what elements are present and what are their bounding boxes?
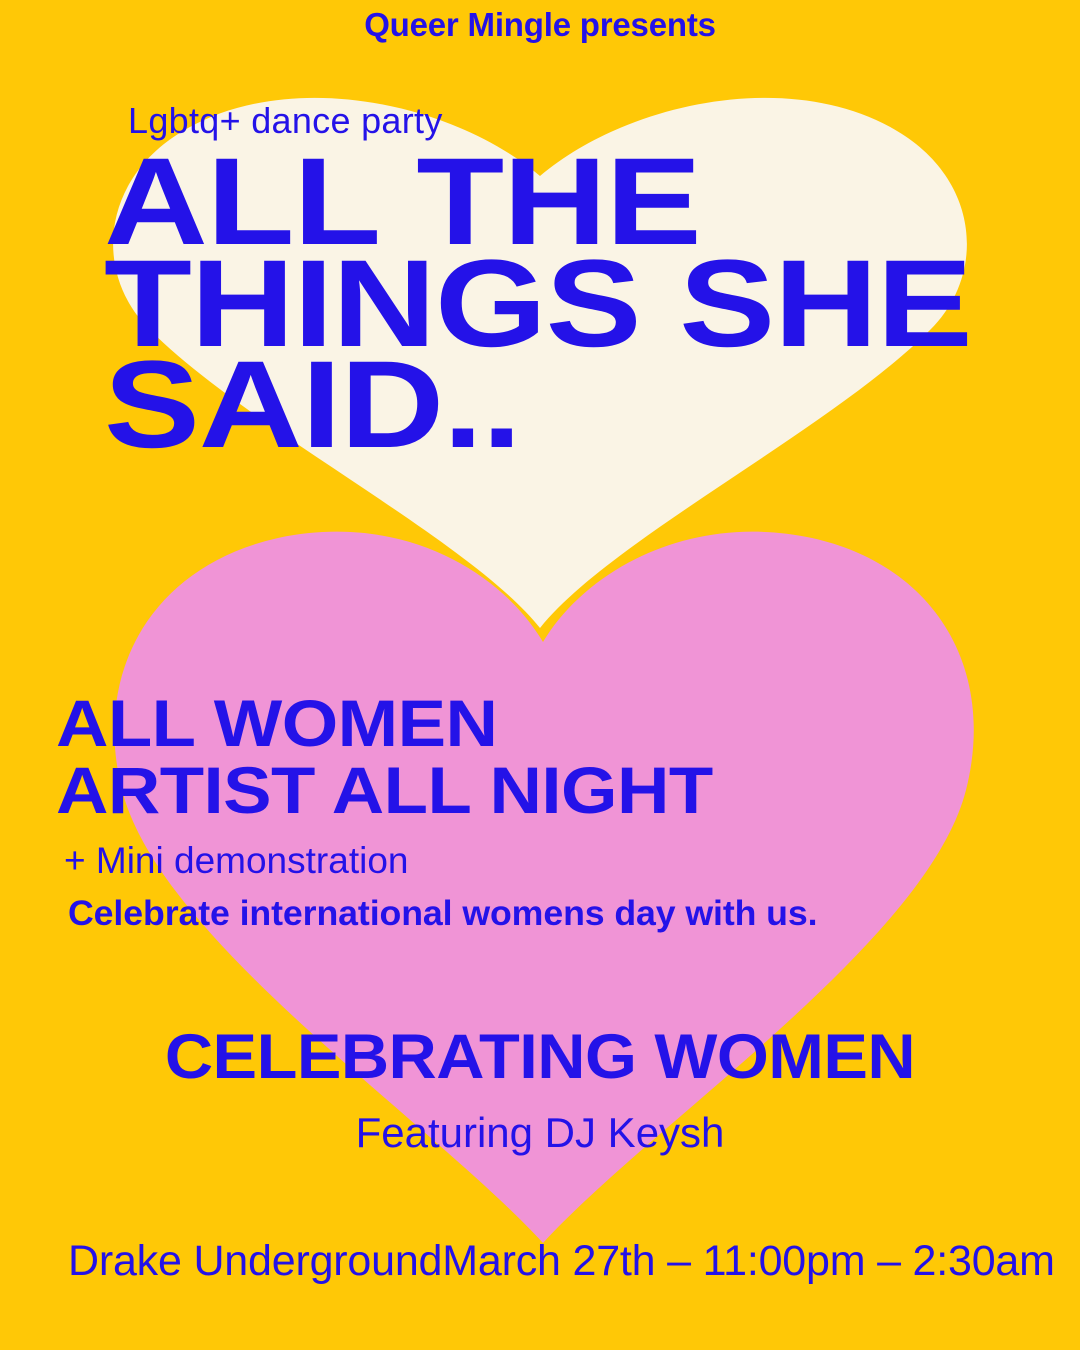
celebrate-tagline: Celebrate international womens day with … — [68, 896, 817, 931]
secondary-headline: ALL WOMEN ARTIST ALL NIGHT — [56, 690, 1080, 825]
mini-demonstration-note: + Mini demonstration — [64, 842, 408, 879]
presenter-line: Queer Mingle presents — [0, 8, 1080, 41]
celebrating-women-band: CELEBRATING WOMEN — [0, 1026, 1080, 1089]
poster-footer: Drake Underground March 27th – 11:00pm –… — [68, 1240, 1020, 1283]
venue-name: Drake Underground — [68, 1240, 442, 1283]
event-datetime: March 27th – 11:00pm – 2:30am — [442, 1240, 1055, 1283]
featuring-artist: Featuring DJ Keysh — [0, 1112, 1080, 1154]
secondary-headline-line-1: ALL WOMEN — [56, 690, 1080, 757]
secondary-headline-line-2: ARTIST ALL NIGHT — [56, 757, 1080, 824]
event-poster: Queer Mingle presents Lgbtq+ dance party… — [0, 0, 1080, 1350]
main-title: ALL THE THINGS SHE SAID.. — [104, 152, 1080, 457]
poster-text-layer: Queer Mingle presents Lgbtq+ dance party… — [0, 0, 1080, 1350]
